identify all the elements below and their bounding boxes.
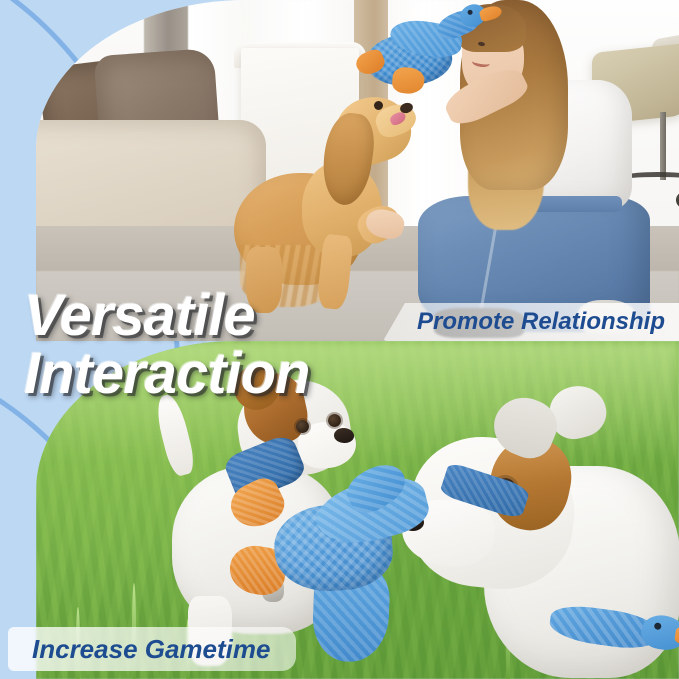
dog-eye	[296, 420, 309, 433]
dog-nose	[334, 428, 354, 443]
badge-increase-gametime-label: Increase Gametime	[32, 634, 270, 665]
duck-plush-toy-top	[343, 0, 502, 113]
badge-increase-gametime: Increase Gametime	[8, 627, 296, 671]
headline-line-1: Versatile	[24, 288, 310, 344]
headline-line-2: Interaction	[24, 346, 310, 402]
badge-promote-relationship: Promote Relationship	[383, 303, 679, 341]
dog-eye	[328, 414, 341, 427]
badge-promote-relationship-label: Promote Relationship	[417, 308, 665, 336]
cocker-spaniel-dog	[224, 95, 414, 310]
product-marketing-card: Versatile Interaction Promote Relationsh…	[0, 0, 679, 679]
dog-front-leg	[316, 234, 354, 311]
headline: Versatile Interaction	[24, 288, 310, 401]
